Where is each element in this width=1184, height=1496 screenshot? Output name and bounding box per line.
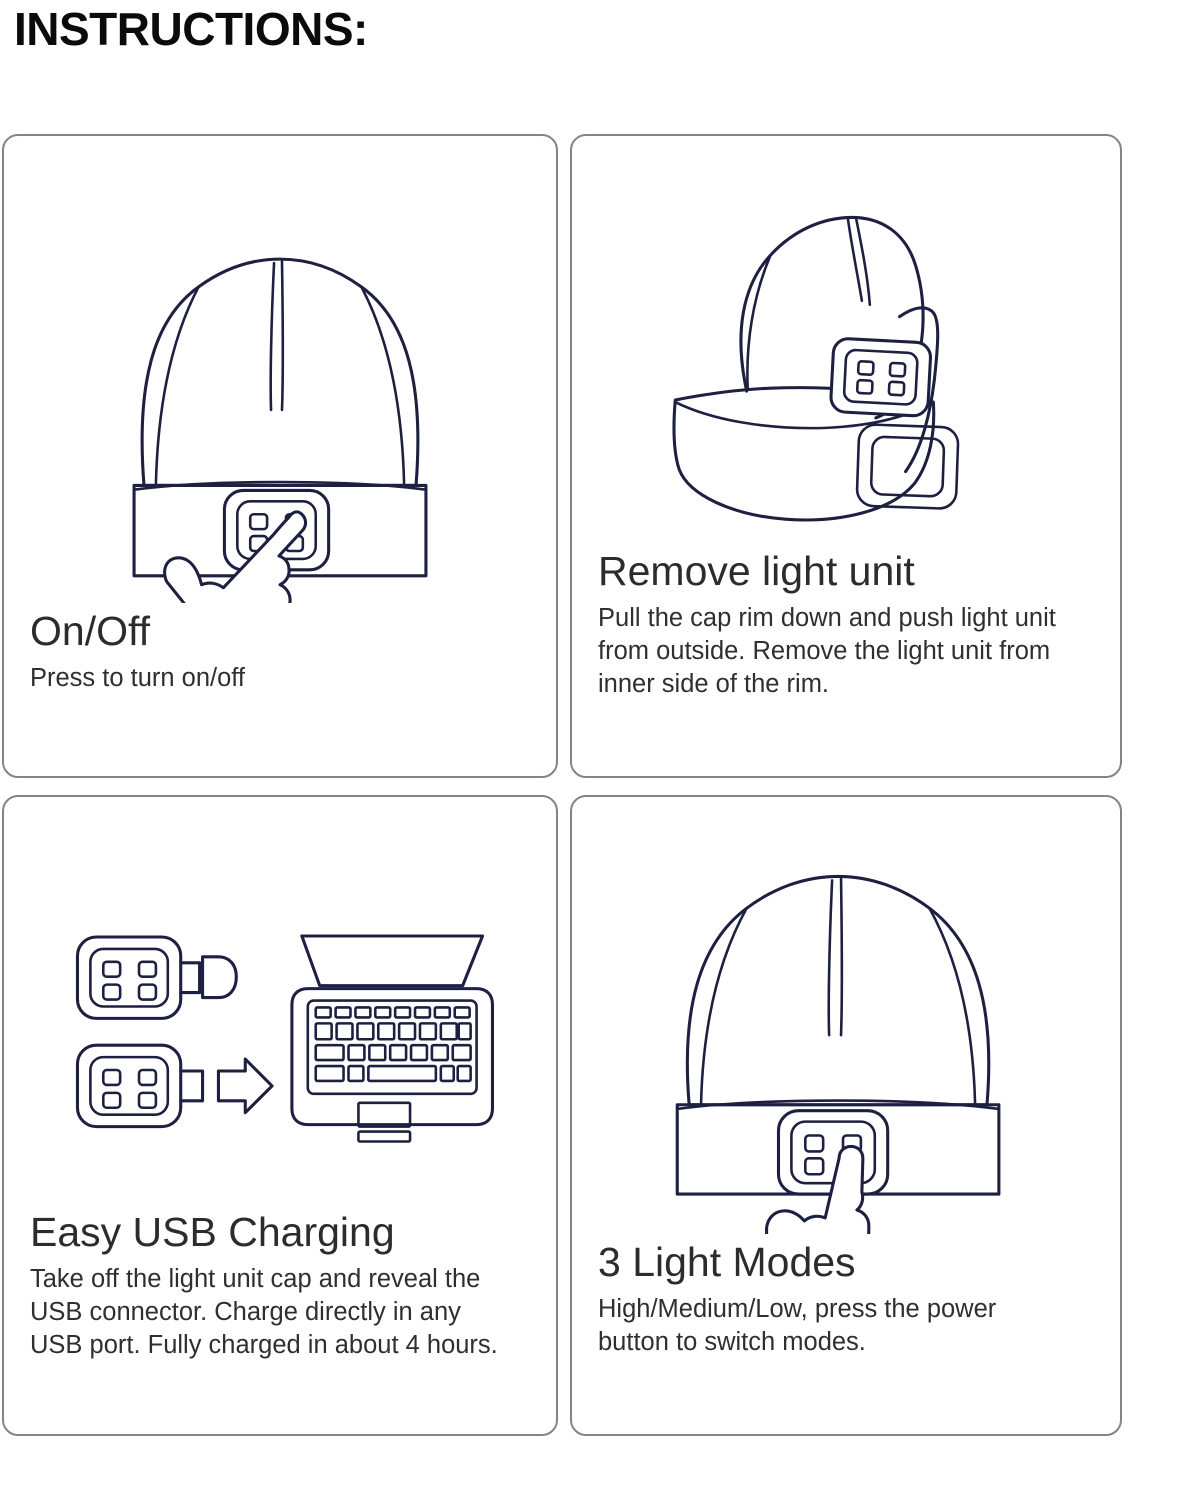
laptop bbox=[292, 936, 493, 1142]
panel-on-off-caption: On/Off Press to turn on/off bbox=[4, 606, 556, 695]
tilted-beanie-illustration bbox=[572, 136, 1120, 543]
panel-easy-usb-charging-title: Easy USB Charging bbox=[30, 1207, 530, 1257]
arrow-right-icon bbox=[218, 1059, 272, 1113]
panel-remove-light-unit: Remove light unit Pull the cap rim down … bbox=[570, 134, 1122, 778]
panel-remove-light-unit-caption: Remove light unit Pull the cap rim down … bbox=[572, 546, 1120, 701]
panel-easy-usb-charging-caption: Easy USB Charging Take off the light uni… bbox=[4, 1207, 556, 1362]
panel-easy-usb-charging: Easy USB Charging Take off the light uni… bbox=[2, 795, 558, 1436]
panel-remove-light-unit-body: Pull the cap rim down and push light uni… bbox=[598, 602, 1094, 701]
panel-3-light-modes: 3 Light Modes High/Medium/Low, press the… bbox=[570, 795, 1122, 1436]
instruction-panel-grid: On/Off Press to turn on/off bbox=[2, 134, 1122, 1436]
panel-on-off-title: On/Off bbox=[30, 606, 530, 656]
usb-charging-illustration bbox=[4, 797, 556, 1204]
panel-3-light-modes-caption: 3 Light Modes High/Medium/Low, press the… bbox=[572, 1237, 1120, 1359]
panel-remove-light-unit-title: Remove light unit bbox=[598, 546, 1094, 596]
beanie-power-button-illustration bbox=[572, 797, 1120, 1234]
panel-easy-usb-charging-body: Take off the light unit cap and reveal t… bbox=[30, 1263, 530, 1362]
panel-3-light-modes-title: 3 Light Modes bbox=[598, 1237, 1094, 1287]
panel-3-light-modes-body: High/Medium/Low, press the power button … bbox=[598, 1293, 1094, 1359]
led-unit-with-cap bbox=[77, 937, 236, 1018]
led-unit-usb-exposed bbox=[77, 1045, 202, 1126]
page-title: INSTRUCTIONS: bbox=[14, 0, 368, 58]
panel-on-off-body: Press to turn on/off bbox=[30, 662, 530, 695]
beanie-pointing-hand-illustration bbox=[4, 136, 556, 603]
panel-on-off: On/Off Press to turn on/off bbox=[2, 134, 558, 778]
